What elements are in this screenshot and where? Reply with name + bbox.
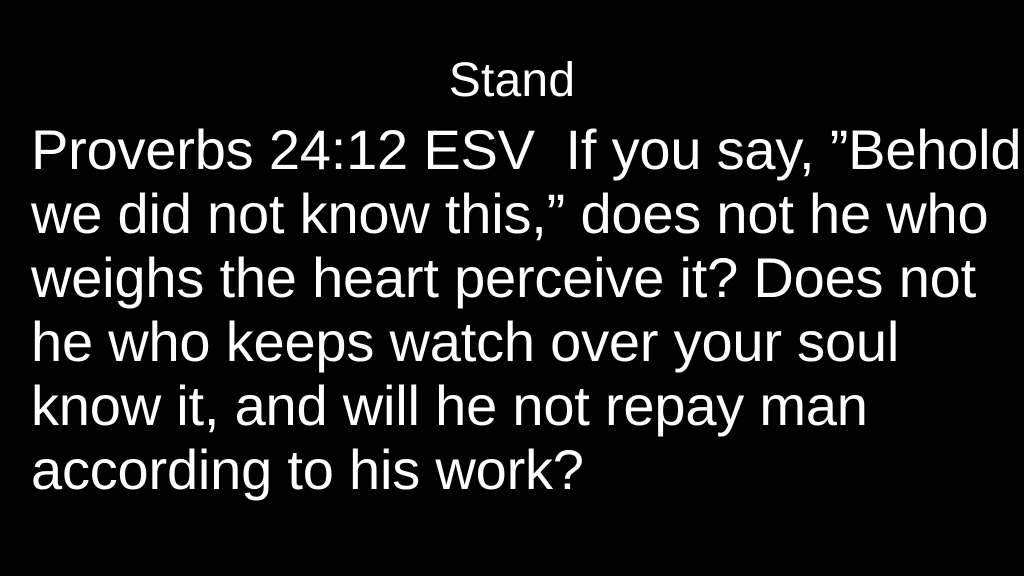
verse-line: he who keeps watch over your soul [31, 310, 993, 374]
verse-line: according to his work? [31, 438, 993, 502]
verse-line: we did not know this,” does not he who [31, 182, 993, 246]
verse-line: know it, and will he not repay man [31, 374, 993, 438]
verse-line: weighs the heart perceive it? Does not [31, 246, 993, 310]
slide-title: Stand [0, 52, 1024, 110]
scripture-text-block: Proverbs 24:12 ESV If you say, ”Behold, … [31, 118, 993, 502]
presentation-slide: Stand Proverbs 24:12 ESV If you say, ”Be… [0, 0, 1024, 576]
verse-line: Proverbs 24:12 ESV If you say, ”Behold, [31, 118, 993, 182]
